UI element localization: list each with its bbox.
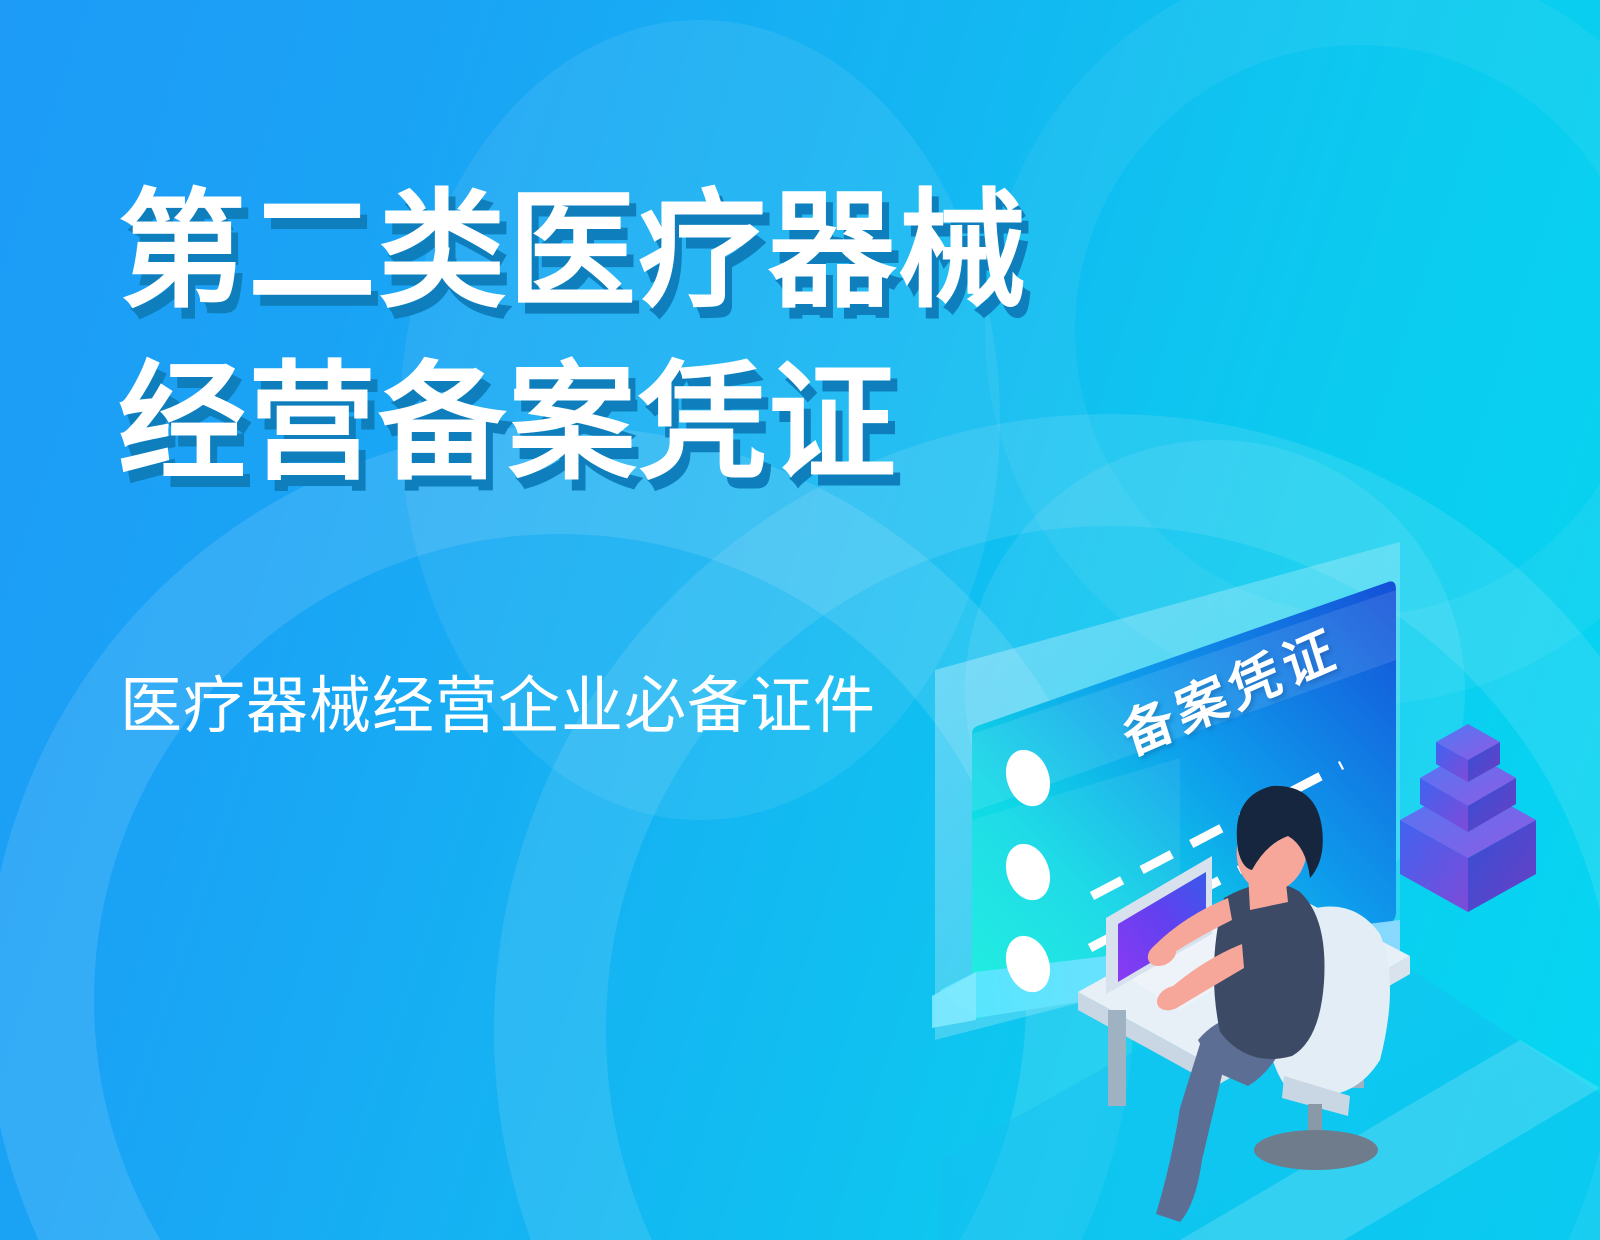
desk-leg-left	[1108, 1010, 1126, 1106]
stacked-boxes	[1400, 724, 1536, 912]
headline-block: 第二类医疗器械 经营备案凭证	[118, 176, 1298, 500]
subtitle: 医疗器械经营企业必备证件	[120, 668, 876, 746]
chair-base	[1254, 1130, 1378, 1170]
banner-canvas: 第二类医疗器械 经营备案凭证 医疗器械经营企业必备证件	[0, 0, 1600, 1240]
headline-line-1: 第二类医疗器械	[118, 176, 1298, 328]
illustration: 备案凭证	[880, 520, 1600, 1240]
bullet-dots	[998, 744, 1057, 999]
illustration-svg	[880, 520, 1600, 1240]
headline-line-2: 经营备案凭证	[118, 348, 1298, 500]
